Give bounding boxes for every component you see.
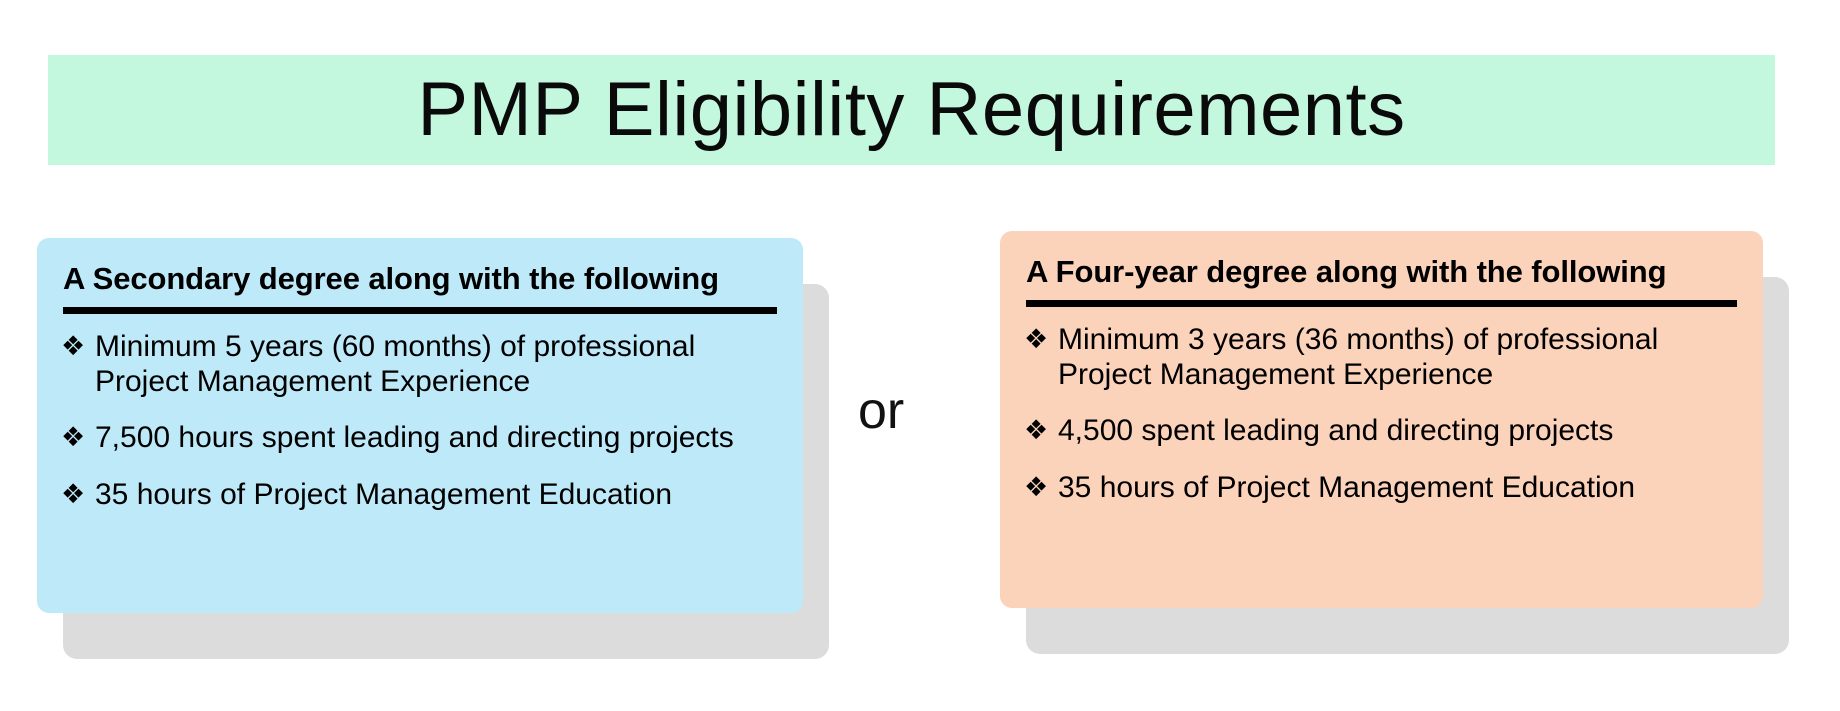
diamond-bullet-icon: ❖ [1024, 471, 1058, 503]
requirement-text: Minimum 5 years (60 months) of professio… [95, 330, 779, 400]
page-title: PMP Eligibility Requirements [417, 72, 1405, 148]
list-item: ❖ Minimum 3 years (36 months) of profess… [1024, 323, 1739, 393]
heading-rule-secondary [63, 307, 777, 314]
requirement-text: 4,500 spent leading and directing projec… [1058, 414, 1739, 449]
list-item: ❖ Minimum 5 years (60 months) of profess… [61, 330, 779, 400]
card-heading-secondary: A Secondary degree along with the follow… [61, 254, 779, 307]
requirement-text: Minimum 3 years (36 months) of professio… [1058, 323, 1739, 393]
requirement-text: 35 hours of Project Management Education [1058, 471, 1739, 506]
card-content-fouryear: A Four-year degree along with the follow… [1000, 231, 1763, 608]
diamond-bullet-icon: ❖ [61, 330, 95, 362]
requirement-list-fouryear: ❖ Minimum 3 years (36 months) of profess… [1024, 323, 1739, 506]
diamond-bullet-icon: ❖ [61, 421, 95, 453]
list-item: ❖ 7,500 hours spent leading and directin… [61, 421, 779, 456]
diamond-bullet-icon: ❖ [1024, 414, 1058, 446]
requirement-text: 35 hours of Project Management Education [95, 478, 779, 513]
requirement-list-secondary: ❖ Minimum 5 years (60 months) of profess… [61, 330, 779, 513]
list-item: ❖ 4,500 spent leading and directing proj… [1024, 414, 1739, 449]
title-banner: PMP Eligibility Requirements [48, 55, 1775, 165]
diamond-bullet-icon: ❖ [61, 478, 95, 510]
list-item: ❖ 35 hours of Project Management Educati… [61, 478, 779, 513]
list-item: ❖ 35 hours of Project Management Educati… [1024, 471, 1739, 506]
diamond-bullet-icon: ❖ [1024, 323, 1058, 355]
or-separator-label: or [858, 385, 978, 437]
requirement-text: 7,500 hours spent leading and directing … [95, 421, 779, 456]
heading-rule-fouryear [1026, 300, 1737, 307]
requirement-card-secondary-degree: A Secondary degree along with the follow… [37, 238, 803, 613]
requirement-card-four-year-degree: A Four-year degree along with the follow… [1000, 231, 1763, 608]
card-heading-fouryear: A Four-year degree along with the follow… [1024, 247, 1739, 300]
card-content-secondary: A Secondary degree along with the follow… [37, 238, 803, 613]
